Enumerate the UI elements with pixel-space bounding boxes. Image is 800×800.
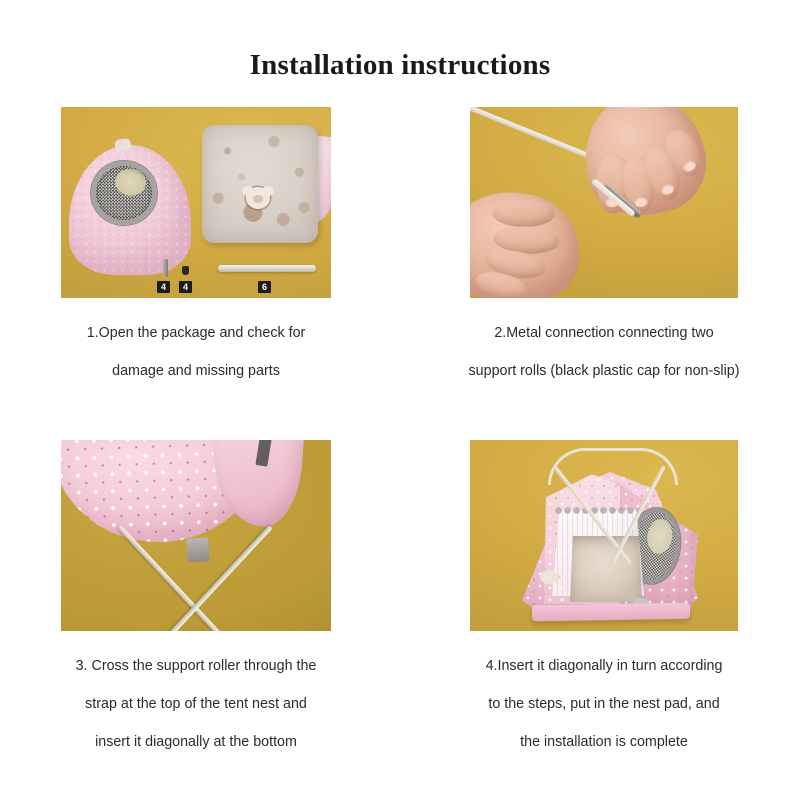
caption-line: 1.Open the package and check for	[26, 314, 366, 352]
step-3-caption: 3. Cross the support roller through the …	[26, 647, 366, 761]
fingernail	[660, 183, 675, 197]
black-plastic-cap-part	[182, 266, 189, 275]
caption-line: insert it diagonally at the bottom	[26, 723, 366, 761]
nest-pad-item	[202, 125, 318, 243]
part-label-badge: 6	[258, 281, 271, 293]
step-1-photo: 4 4 6	[61, 107, 331, 298]
caption-line: the installation is complete	[434, 723, 774, 761]
mesh-window-icon	[91, 161, 157, 225]
top-strap	[186, 537, 210, 562]
finger	[493, 200, 555, 227]
instruction-step-3: 3. Cross the support roller through the …	[26, 440, 366, 761]
step-2-photo	[470, 107, 738, 298]
step-1-caption: 1.Open the package and check for damage …	[26, 314, 366, 390]
caption-line: damage and missing parts	[26, 352, 366, 390]
bow-tie-icon	[540, 570, 558, 584]
metal-connector-part	[163, 259, 168, 277]
step-4-caption: 4.Insert it diagonally in turn according…	[434, 647, 774, 761]
part-label-badge: 4	[179, 281, 192, 293]
caption-line: to the steps, put in the nest pad, and	[434, 685, 774, 723]
tent-base	[532, 603, 690, 622]
page-title: Installation instructions	[0, 49, 800, 82]
caption-line: support rolls (black plastic cap for non…	[434, 352, 774, 390]
step-3-photo	[61, 440, 331, 631]
step-2-caption: 2.Metal connection connecting two suppor…	[434, 314, 774, 390]
step-4-photo	[470, 440, 738, 631]
instruction-step-1: 4 4 6 1.Open the package and check for d…	[26, 107, 366, 390]
pad-print-pattern	[202, 125, 318, 243]
nest-pad-inside	[570, 536, 642, 602]
caption-line: 2.Metal connection connecting two	[434, 314, 774, 352]
pompom-trim	[554, 506, 642, 516]
fingernail	[634, 196, 648, 208]
instruction-step-2: 2.Metal connection connecting two suppor…	[434, 107, 774, 390]
bear-print-icon	[246, 187, 270, 209]
part-label-badge: 4	[157, 281, 170, 293]
caption-line: 3. Cross the support roller through the	[26, 647, 366, 685]
caption-line: 4.Insert it diagonally in turn according	[434, 647, 774, 685]
fingernail	[681, 159, 697, 174]
instruction-step-4: 4.Insert it diagonally in turn according…	[434, 440, 774, 761]
support-rod-part	[218, 265, 316, 272]
caption-line: strap at the top of the tent nest and	[26, 685, 366, 723]
assembled-tent	[514, 448, 704, 626]
